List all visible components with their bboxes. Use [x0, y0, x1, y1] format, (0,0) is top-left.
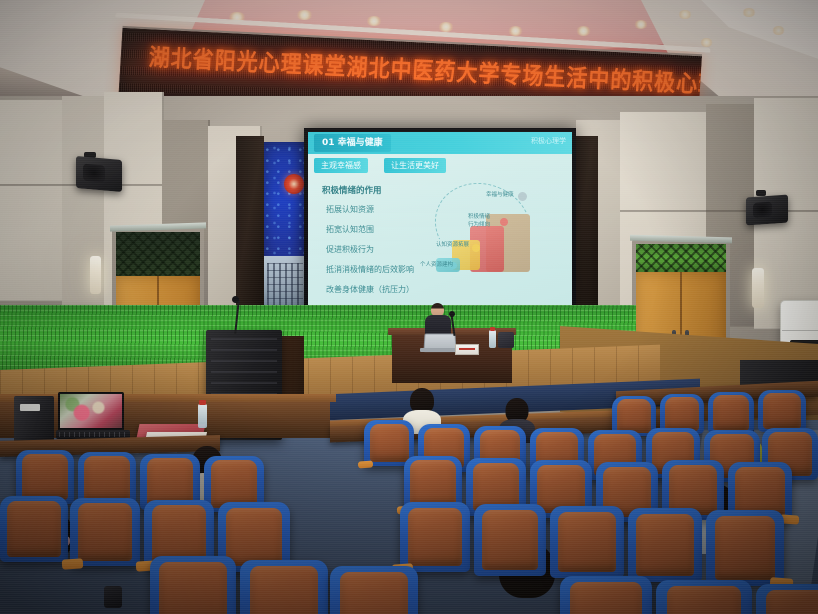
seat-cushion [408, 508, 463, 567]
downlight [700, 38, 713, 47]
presenter-microphone [449, 311, 455, 317]
bottle-cap [199, 400, 206, 405]
console-microphone [232, 296, 239, 303]
seat-cushion [250, 566, 319, 614]
slide-subtitle-right: 让生活更美好 [384, 158, 446, 173]
seat-cushion [370, 424, 409, 463]
seat-cushion [636, 514, 694, 576]
stage-bag [498, 332, 514, 348]
slide-bullet: 拓展认知资源 [326, 204, 374, 215]
seat-cushion [715, 516, 776, 580]
seat-cushion [340, 572, 409, 614]
auditorium-seat[interactable] [560, 576, 652, 614]
auditorium-seat[interactable] [756, 584, 818, 614]
slide-bullet: 抵消消极情绪的后效影响 [326, 264, 414, 275]
auditorium-seat[interactable] [628, 508, 702, 582]
speaker-bracket [756, 190, 766, 196]
wall-seam [620, 210, 818, 212]
auditorium-seat[interactable] [656, 580, 752, 614]
name-card [455, 344, 479, 355]
seat-cushion [667, 586, 742, 614]
wall-sconce-right [752, 268, 764, 308]
slide-subtitle-left: 主观幸福感 [314, 158, 368, 173]
backdrop-banner-left [264, 142, 306, 314]
diagram-label: 行为倾向 [468, 220, 490, 228]
auditorium-seat[interactable] [400, 502, 470, 572]
seat-cushion [763, 393, 800, 428]
console-monitor [58, 392, 124, 434]
presenter [425, 303, 451, 337]
water-bottle-stage [489, 330, 496, 348]
auditorium-seat[interactable] [70, 498, 140, 566]
diagram-label: 个人资源建构 [420, 260, 453, 268]
slide-diagram: 幸福与健康 积极情绪 行为倾向 认知资源拓展 个人资源建构 [430, 178, 560, 296]
seat-cushion [152, 505, 207, 562]
attendee-phone [104, 586, 122, 608]
console-monitor-screen [60, 394, 122, 428]
downlight [296, 10, 313, 20]
slide-section-heading: 积极情绪的作用 [322, 184, 382, 196]
projection-screen: 01 幸福与健康 积极心理学 主观幸福感 让生活更美好 积极情绪的作用 拓展认知… [308, 132, 572, 314]
diagram-node [518, 192, 527, 201]
downlight [772, 26, 785, 35]
slide-bullet: 拓宽认知范围 [326, 224, 374, 235]
seat-cushion [410, 460, 455, 507]
slide-bullet: 改善身体健康（抗压力） [326, 284, 414, 295]
seat-cushion [713, 395, 749, 430]
wall-sconce-left [90, 256, 101, 294]
seat-armrest [358, 460, 373, 468]
seat-armrest [61, 558, 83, 570]
seat-cushion [482, 510, 538, 570]
bottle-cap [490, 327, 495, 331]
university-emblem-left [284, 174, 304, 194]
auditorium-seat[interactable] [474, 504, 546, 576]
auditorium-seat[interactable] [240, 560, 328, 614]
seat-cushion [211, 460, 258, 507]
slide-title: 01 幸福与健康 [314, 134, 391, 152]
door-transom-right [636, 244, 726, 272]
auditorium-seat[interactable] [330, 566, 418, 614]
diagram-label: 积极情绪 [468, 212, 490, 220]
downlight [366, 16, 382, 26]
seat-cushion [159, 562, 226, 614]
wall-speaker-right [746, 195, 788, 226]
downlight [678, 10, 692, 19]
downlight [742, 8, 756, 17]
seat-cushion [665, 397, 699, 431]
diagram-label: 幸福与健康 [486, 190, 514, 198]
wall-speaker-left [76, 156, 122, 192]
diagram-node [472, 244, 480, 252]
seat-cushion [84, 456, 129, 501]
downlight [634, 20, 648, 29]
auditorium-seat[interactable] [550, 506, 624, 578]
seat-cushion [78, 503, 133, 560]
seat-cushion [22, 454, 67, 499]
auditorium-seat[interactable] [706, 510, 784, 586]
led-banner-text: 湖北省阳光心理课堂湖北中医药大学专场生活中的积极心理学讲座 [148, 39, 689, 99]
water-bottle-console [198, 404, 207, 428]
seat-cushion [558, 512, 616, 572]
auditorium-seat[interactable] [708, 392, 754, 434]
seat-cushion [570, 582, 642, 614]
auditorium-seat[interactable] [150, 556, 236, 614]
auditorium-seat[interactable] [758, 390, 806, 432]
stage-pillar-left [236, 136, 264, 328]
diagram-node [500, 218, 508, 226]
slide-corner-tag: 积极心理学 [531, 136, 566, 146]
auditorium-seat[interactable] [0, 496, 68, 562]
door-transom-left [116, 232, 200, 276]
seat-cushion [7, 501, 60, 556]
seat-cushion [766, 590, 818, 614]
diagram-label: 认知资源拓展 [436, 240, 469, 248]
seat-cushion [147, 458, 194, 505]
auditorium-photo: 湖北省阳光心理课堂湖北中医药大学专场生活中的积极心理学讲座 [0, 0, 818, 614]
downlight [228, 12, 246, 23]
wall-panel [0, 100, 64, 301]
ac-seam [782, 330, 818, 331]
slide-bullet: 促进积极行为 [326, 244, 374, 255]
presenter-laptop-base [420, 348, 458, 352]
